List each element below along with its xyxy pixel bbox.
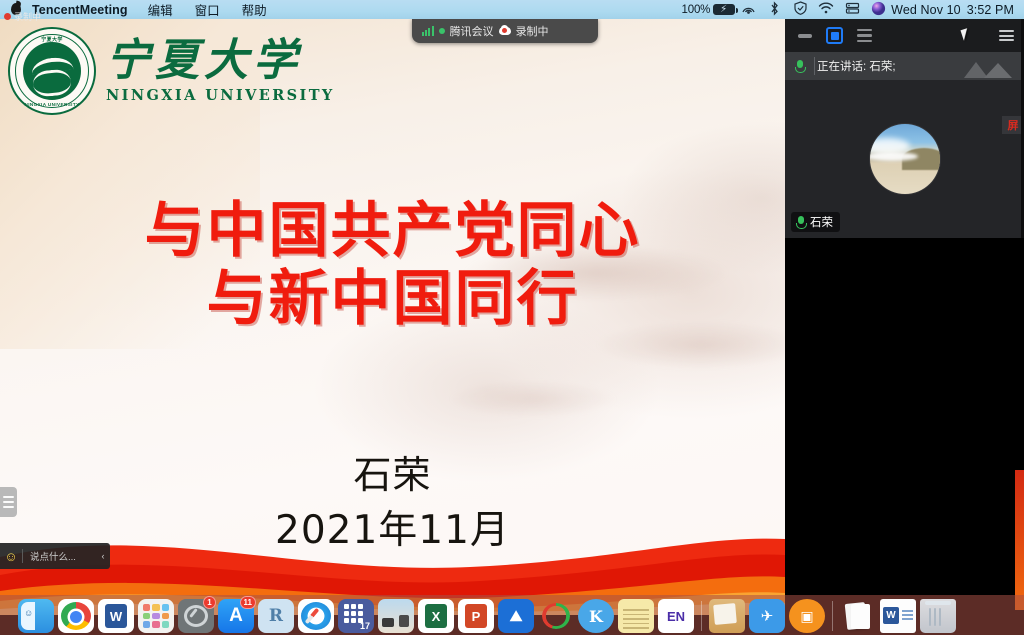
microphone-icon xyxy=(796,216,805,229)
recording-dot-icon xyxy=(4,13,11,20)
badge-count: 1 xyxy=(203,596,216,609)
gallery-list-view-icon[interactable] xyxy=(855,26,874,45)
downloads-folder-icon[interactable] xyxy=(709,599,745,633)
safari-icon[interactable] xyxy=(298,599,334,633)
badge-count: 11 xyxy=(240,596,256,609)
powerpoint-icon[interactable] xyxy=(458,599,494,633)
battery-charging-icon[interactable]: ⚡ xyxy=(713,4,735,15)
status-dot-icon xyxy=(439,28,445,34)
display-icon[interactable] xyxy=(839,2,865,18)
macos-dock: ☺ 1 A 11 R 17 ⛰ K EN xyxy=(0,595,1024,635)
word-document-icon[interactable] xyxy=(880,599,916,633)
menu-item-edit[interactable]: 编辑 xyxy=(148,0,173,19)
seal-emblem-icon xyxy=(23,42,81,100)
speaking-status-label: 正在讲话: 石荣; xyxy=(812,58,896,74)
meeting-floating-bar[interactable]: 腾讯会议 录制中 xyxy=(412,19,598,43)
video-panel-toolbar xyxy=(785,19,1024,52)
university-logo: 宁夏大学 NINGXIA UNIVERSITY 宁夏大学 NINGXIA UNI… xyxy=(8,27,335,115)
slide-title: 与中国共产党同心 与新中国同行 xyxy=(0,197,785,334)
slide-presenter: 石荣 xyxy=(353,453,431,497)
presentation-slide: 宁夏大学 NINGXIA UNIVERSITY 宁夏大学 NINGXIA UNI… xyxy=(0,19,785,615)
menu-item-window[interactable]: 窗口 xyxy=(195,0,220,19)
dock-divider xyxy=(701,601,702,631)
participant-name: 石荣 xyxy=(810,214,833,230)
airplay-icon[interactable] xyxy=(735,2,761,18)
photos-icon[interactable] xyxy=(378,599,414,633)
word-icon[interactable] xyxy=(98,599,134,633)
k-label: K xyxy=(589,607,603,626)
input-method-icon[interactable]: EN xyxy=(658,599,694,633)
launchpad-icon[interactable] xyxy=(138,599,174,633)
microphone-icon xyxy=(795,60,804,73)
documents-stack-icon[interactable] xyxy=(840,599,876,633)
rstudio-icon[interactable]: R xyxy=(258,599,294,633)
input-method-label: EN xyxy=(667,609,685,624)
university-seal-icon: 宁夏大学 NINGXIA UNIVERSITY xyxy=(8,27,96,115)
mouse-cursor-icon xyxy=(960,28,970,41)
recording-label: 录制中 xyxy=(14,10,41,23)
excel-icon[interactable] xyxy=(418,599,454,633)
minimize-bar-icon[interactable] xyxy=(795,26,814,45)
slide-title-line1: 与中国共产党同心 xyxy=(145,196,641,266)
app-store-icon[interactable]: A 11 xyxy=(218,599,254,633)
background-red-strip xyxy=(1015,470,1024,610)
university-name-en: NINGXIA UNIVERSITY xyxy=(106,87,335,104)
calendar-day: 17 xyxy=(360,621,370,631)
chat-input-bar[interactable]: ☺ 说点什么... ‹ xyxy=(0,543,110,569)
menubar-app-name[interactable]: TencentMeeting xyxy=(32,3,128,17)
bluetooth-icon[interactable] xyxy=(761,1,787,19)
sidebar-toggle-tab[interactable] xyxy=(0,487,17,517)
divider xyxy=(814,57,815,75)
battery-percent: 100% xyxy=(682,4,711,16)
smiley-face-icon[interactable]: ☺ xyxy=(0,549,22,564)
desktop-background xyxy=(785,238,1024,635)
speaker-view-icon[interactable] xyxy=(825,26,844,45)
collapse-panel-icon[interactable] xyxy=(999,30,1014,41)
university-name-cn: 宁夏大学 xyxy=(106,39,335,83)
system-settings-icon[interactable]: 1 xyxy=(178,599,214,633)
beach-photo-avatar xyxy=(870,124,940,194)
seal-bottom-text: NINGXIA UNIVERSITY xyxy=(10,102,94,107)
hamburger-menu-icon xyxy=(3,496,14,498)
participant-name-tag: 石荣 xyxy=(791,212,840,232)
orange-app-icon[interactable]: ▣ xyxy=(789,599,825,633)
notes-icon[interactable] xyxy=(618,599,654,633)
k-app-icon[interactable]: K xyxy=(578,599,614,633)
wifi-icon[interactable] xyxy=(813,2,839,17)
mountain-decoration-icon xyxy=(962,60,1018,78)
siri-icon[interactable] xyxy=(865,1,891,19)
participant-tile[interactable]: 石荣 屏 xyxy=(785,80,1024,238)
bird-app-icon[interactable]: ✈ xyxy=(749,599,785,633)
recording-cloud-icon xyxy=(499,27,511,35)
chat-input-placeholder[interactable]: 说点什么... xyxy=(23,549,96,563)
menu-item-help[interactable]: 帮助 xyxy=(242,0,267,19)
signal-bars-icon xyxy=(422,26,434,36)
university-wordmark: 宁夏大学 NINGXIA UNIVERSITY xyxy=(106,39,335,104)
chrome-icon[interactable] xyxy=(58,599,94,633)
calendar-icon[interactable]: 17 xyxy=(338,599,374,633)
ring-app-icon[interactable] xyxy=(538,599,574,633)
menubar-date[interactable]: Wed Nov 10 xyxy=(891,3,961,17)
recording-indicator: 录制中 xyxy=(4,10,41,23)
video-panel: 正在讲话: 石荣; 石荣 屏 xyxy=(785,19,1024,238)
mountain-app-icon[interactable]: ⛰ xyxy=(498,599,534,633)
rstudio-label: R xyxy=(269,606,283,626)
menubar-time[interactable]: 3:52 PM xyxy=(967,3,1014,17)
macos-menubar: TencentMeeting 编辑 窗口 帮助 100% ⚡ xyxy=(0,0,1024,19)
dock-divider xyxy=(832,601,833,631)
shield-icon[interactable] xyxy=(787,1,813,18)
slide-title-line2: 与新中国同行 xyxy=(0,265,785,333)
meeting-recording-label: 录制中 xyxy=(516,23,549,39)
chevron-left-icon[interactable]: ‹ xyxy=(96,551,110,561)
screen: 宁夏大学 NINGXIA UNIVERSITY 宁夏大学 NINGXIA UNI… xyxy=(0,0,1024,635)
finder-icon[interactable]: ☺ xyxy=(18,599,54,633)
menubar-status-area: 100% ⚡ xyxy=(682,1,1018,19)
meeting-app-label: 腾讯会议 xyxy=(450,23,494,39)
trash-icon[interactable] xyxy=(920,599,956,633)
speaking-status-bar: 正在讲话: 石荣; xyxy=(785,52,1024,80)
